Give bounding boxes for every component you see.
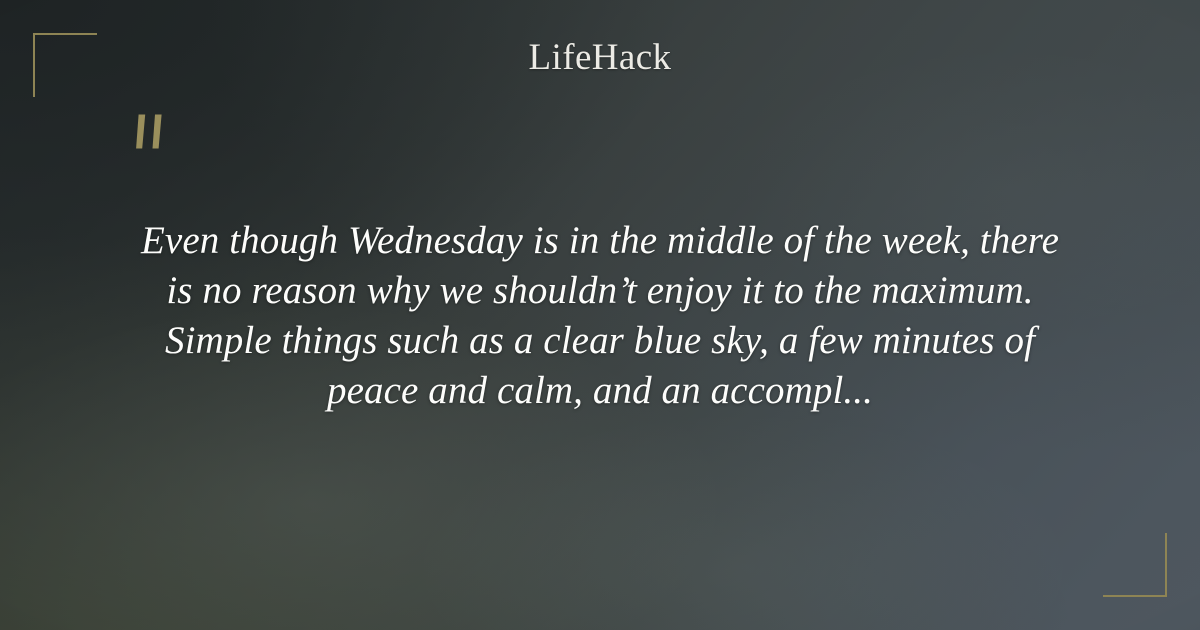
quote-text: Even though Wednesday is in the middle o… — [100, 216, 1100, 416]
quote-line: Even though Wednesday is in the middle o… — [100, 216, 1100, 266]
opening-double-quote-icon — [124, 108, 188, 180]
corner-bracket-bottom-right-icon — [1103, 533, 1167, 597]
brand-wordmark: LifeHack — [0, 39, 1200, 78]
quote-card: LifeHack Even though Wednesday is in the… — [0, 0, 1200, 630]
quote-line: peace and calm, and an accompl... — [100, 366, 1100, 416]
quote-line: is no reason why we shouldn’t enjoy it t… — [100, 266, 1100, 316]
quote-line: Simple things such as a clear blue sky, … — [100, 316, 1100, 366]
